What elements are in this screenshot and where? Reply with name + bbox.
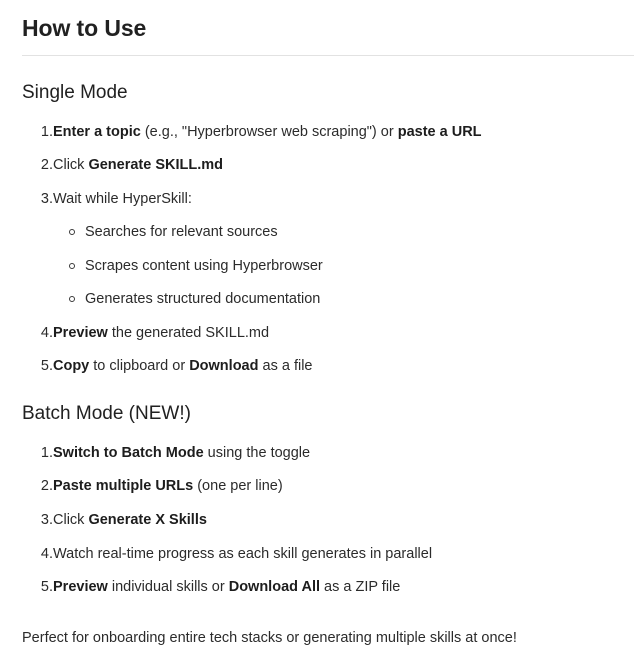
step-text-segment: using the toggle [204,445,310,461]
circle-bullet-icon [69,296,75,302]
step-item: 4.Preview the generated SKILL.md [22,324,626,344]
step-text-segment: (one per line) [193,478,282,494]
step-text-segment: as a ZIP file [320,579,400,595]
step-text: Watch real-time progress as each skill g… [53,546,432,562]
step-marker: 5. [37,357,53,377]
step-text: Click Generate SKILL.md [53,157,223,173]
step-text: Enter a topic (e.g., "Hyperbrowser web s… [53,124,482,140]
substep-text: Scrapes content using Hyperbrowser [85,258,323,274]
step-text-emphasis: Preview [53,579,108,595]
step-text-emphasis: Generate SKILL.md [88,157,223,173]
substep-text: Searches for relevant sources [85,224,278,240]
step-text: Preview the generated SKILL.md [53,325,269,341]
substep-text: Generates structured documentation [85,291,320,307]
step-text: Wait while HyperSkill: [53,191,192,207]
steps-list: 1.Enter a topic (e.g., "Hyperbrowser web… [22,123,626,378]
step-item: 5.Preview individual skills or Download … [22,578,626,598]
steps-list: 1.Switch to Batch Mode using the toggle2… [22,444,626,598]
step-text-segment: (e.g., "Hyperbrowser web scraping") or [141,124,398,140]
step-marker: 4. [37,324,53,344]
step-marker: 1. [37,123,53,143]
step-text-emphasis: Download [189,358,258,374]
step-marker: 4. [37,545,53,565]
step-item: 2.Click Generate SKILL.md [22,156,626,176]
step-text-segment: Wait while HyperSkill: [53,191,192,207]
substeps-list: Searches for relevant sourcesScrapes con… [53,223,626,310]
step-text-emphasis: Switch to Batch Mode [53,445,204,461]
step-text: Paste multiple URLs (one per line) [53,478,283,494]
step-text-segment: Click [53,157,88,173]
circle-bullet-icon [69,229,75,235]
substep-item: Searches for relevant sources [53,223,626,243]
step-marker: 2. [37,477,53,497]
step-item: 1.Enter a topic (e.g., "Hyperbrowser web… [22,123,626,143]
step-marker: 5. [37,578,53,598]
closing-paragraph: Perfect for onboarding entire tech stack… [22,598,626,648]
step-marker: 2. [37,156,53,176]
step-text-emphasis: Copy [53,358,89,374]
step-text-segment: Click [53,512,88,528]
how-to-use-document: How to Use Single Mode1.Enter a topic (e… [0,0,634,648]
step-text-emphasis: Enter a topic [53,124,141,140]
page-title: How to Use [22,14,626,55]
step-text-segment: as a file [258,358,312,374]
step-text-emphasis: Download All [229,579,320,595]
circle-bullet-icon [69,263,75,269]
step-text-emphasis: Paste multiple URLs [53,478,193,494]
step-text-emphasis: Preview [53,325,108,341]
step-item: 2.Paste multiple URLs (one per line) [22,477,626,497]
step-text: Switch to Batch Mode using the toggle [53,445,310,461]
step-text-segment: to clipboard or [89,358,189,374]
section-heading: Single Mode [22,56,626,105]
step-item: 5.Copy to clipboard or Download as a fil… [22,357,626,377]
substep-item: Generates structured documentation [53,290,626,310]
step-text-segment: individual skills or [108,579,229,595]
step-text-segment: Watch real-time progress as each skill g… [53,546,432,562]
step-text-emphasis: paste a URL [398,124,482,140]
sections-container: Single Mode1.Enter a topic (e.g., "Hyper… [22,56,626,598]
step-marker: 3. [37,511,53,531]
step-item: 4.Watch real-time progress as each skill… [22,545,626,565]
step-marker: 1. [37,444,53,464]
step-item: 3.Click Generate X Skills [22,511,626,531]
substep-item: Scrapes content using Hyperbrowser [53,257,626,277]
step-text: Click Generate X Skills [53,512,207,528]
step-text-emphasis: Generate X Skills [88,512,206,528]
step-text: Copy to clipboard or Download as a file [53,358,312,374]
step-item: 1.Switch to Batch Mode using the toggle [22,444,626,464]
step-marker: 3. [37,190,53,210]
step-text: Preview individual skills or Download Al… [53,579,400,595]
section-heading: Batch Mode (NEW!) [22,377,626,426]
step-text-segment: the generated SKILL.md [108,325,269,341]
step-item: 3.Wait while HyperSkill:Searches for rel… [22,190,626,310]
